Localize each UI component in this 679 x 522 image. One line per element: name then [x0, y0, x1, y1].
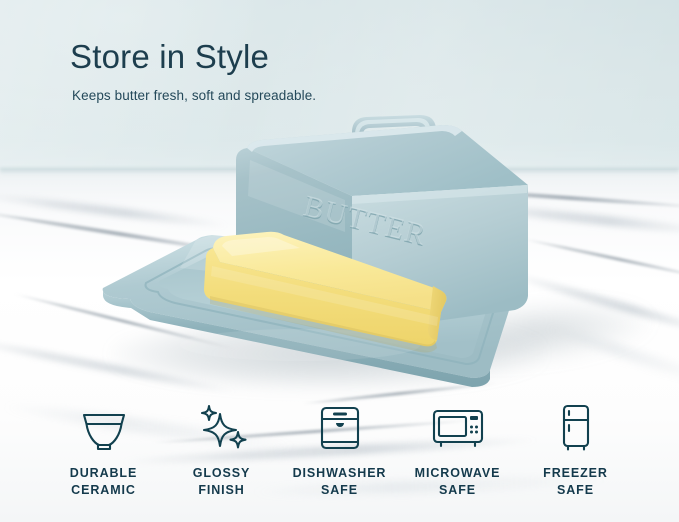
feature-item: FREEZER SAFE	[517, 402, 635, 498]
feature-label: GLOSSY FINISH	[193, 465, 251, 498]
feature-item: DURABLE CERAMIC	[45, 402, 163, 498]
feature-list: DURABLE CERAMIC GLOSSY FINISH	[0, 402, 679, 522]
feature-label: MICROWAVE SAFE	[415, 465, 501, 498]
dishwasher-icon	[317, 402, 363, 454]
fridge-icon	[557, 402, 595, 454]
product-lifestyle-image: Store in Style Keeps butter fresh, soft …	[0, 0, 679, 522]
microwave-icon	[431, 402, 485, 454]
sparkle-icon	[196, 402, 248, 454]
feature-label: FREEZER SAFE	[543, 465, 608, 498]
feature-item: MICROWAVE SAFE	[399, 402, 517, 498]
feature-item: GLOSSY FINISH	[163, 402, 281, 498]
butter-dish-product: BUTTER BUTTER	[0, 0, 679, 440]
feature-label: DURABLE CERAMIC	[70, 465, 137, 498]
butter-stick	[0, 0, 679, 440]
bowl-icon	[79, 402, 129, 454]
feature-label: DISHWASHER SAFE	[293, 465, 387, 498]
feature-item: DISHWASHER SAFE	[281, 402, 399, 498]
